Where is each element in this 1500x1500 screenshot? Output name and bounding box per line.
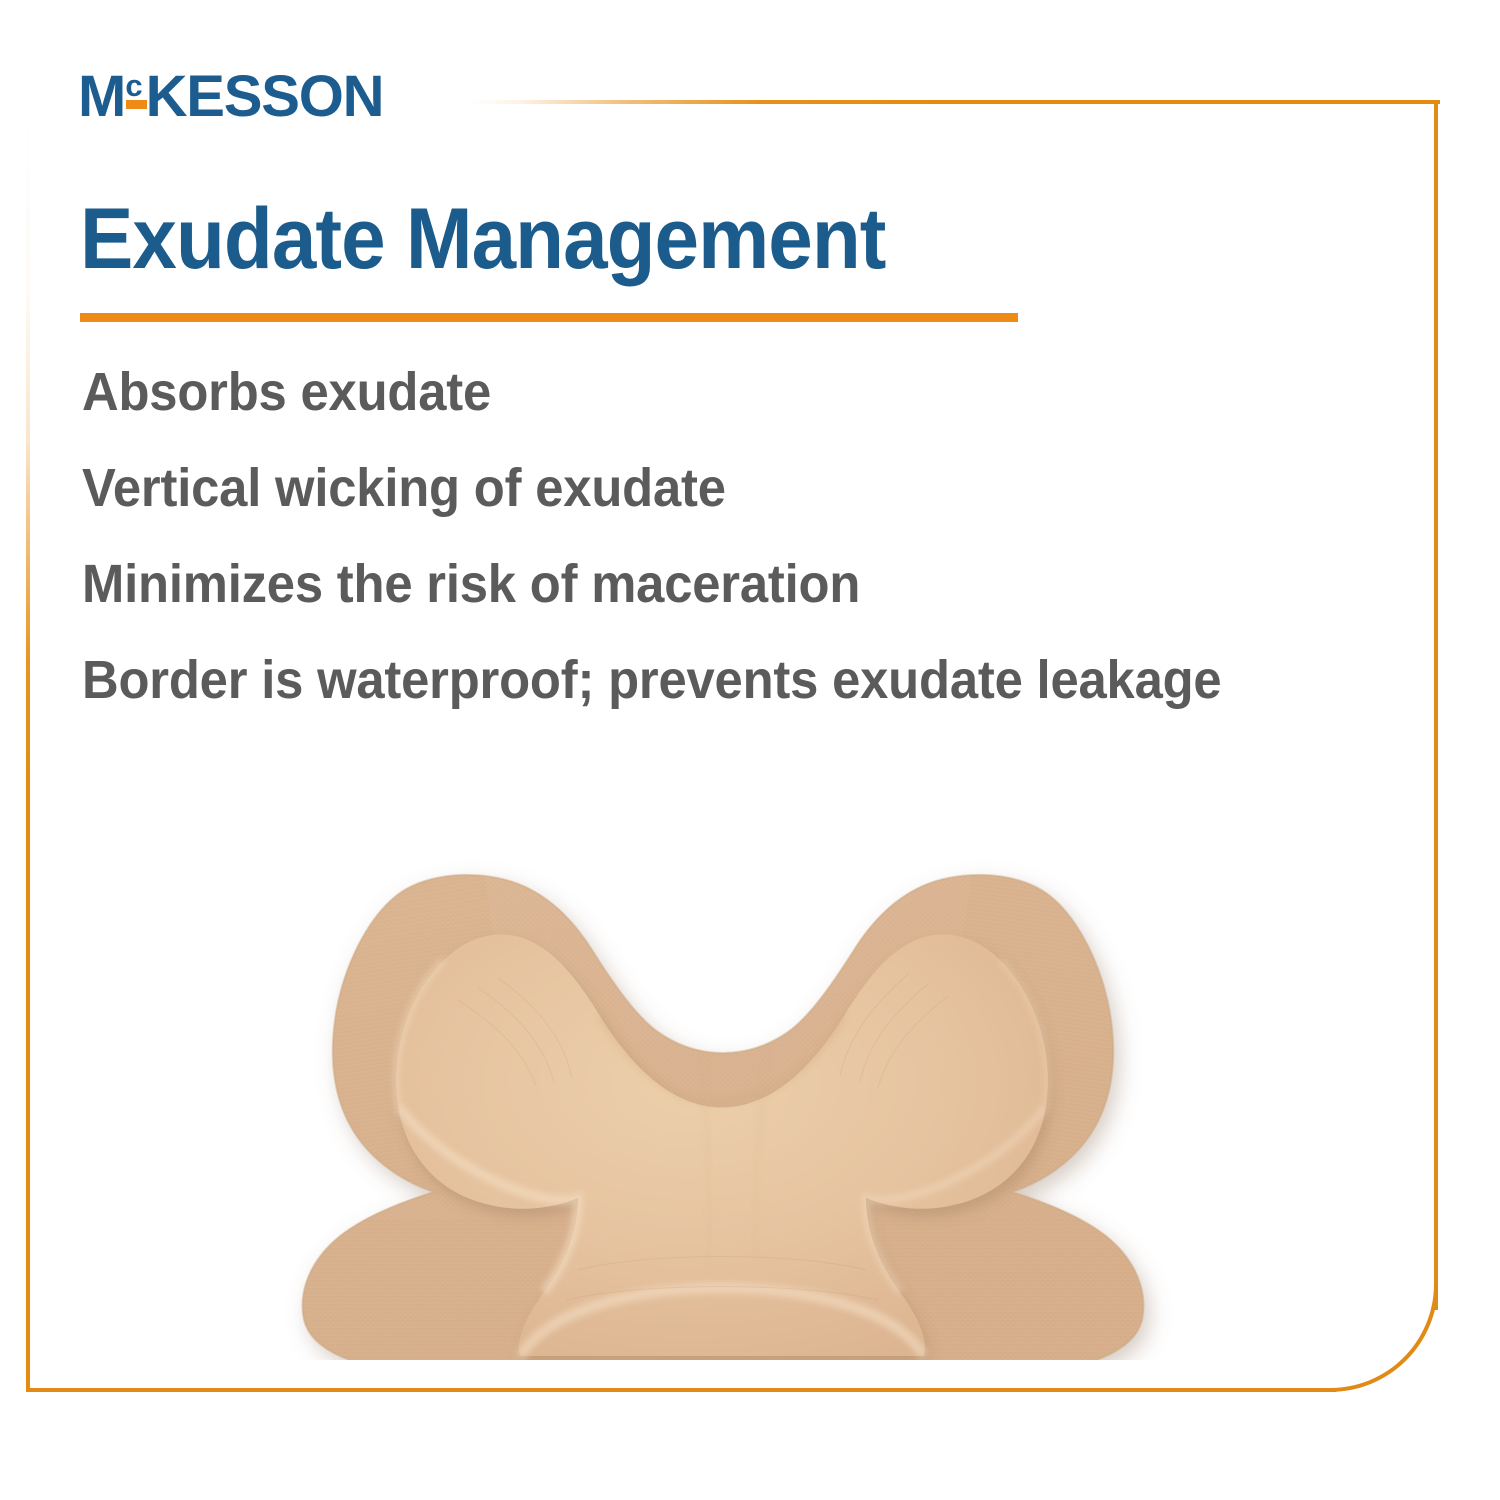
- logo-superscript-c-group: c: [125, 68, 142, 101]
- title-underline-rule: [80, 313, 1018, 322]
- frame-bottom-edge: [26, 1388, 1336, 1392]
- frame-right-edge: [1434, 100, 1438, 1310]
- frame-top-edge: [470, 100, 1440, 104]
- poster-canvas: M c KESSON Exudate Management Absorbs ex…: [0, 0, 1500, 1500]
- logo-letter-m: M: [78, 68, 125, 126]
- logo-word-kesson: KESSON: [146, 68, 384, 126]
- page-title: Exudate Management: [80, 196, 885, 282]
- feature-item-4: Border is waterproof; prevents exudate l…: [82, 632, 1323, 728]
- product-image-sacral-foam-dressing: [248, 800, 1198, 1360]
- feature-item-2: Vertical wicking of exudate: [82, 440, 1323, 536]
- frame-left-edge: [26, 110, 30, 1392]
- dressing-illustration: [248, 800, 1198, 1360]
- frame-corner-bottom-right: [1328, 1282, 1438, 1392]
- mckesson-logo: M c KESSON: [78, 68, 383, 126]
- feature-list: Absorbs exudate Vertical wicking of exud…: [82, 344, 1402, 728]
- logo-letter-c: c: [125, 70, 142, 101]
- feature-item-1: Absorbs exudate: [82, 344, 1323, 440]
- logo-orange-underline: [126, 100, 147, 109]
- feature-item-3: Minimizes the risk of maceration: [82, 536, 1323, 632]
